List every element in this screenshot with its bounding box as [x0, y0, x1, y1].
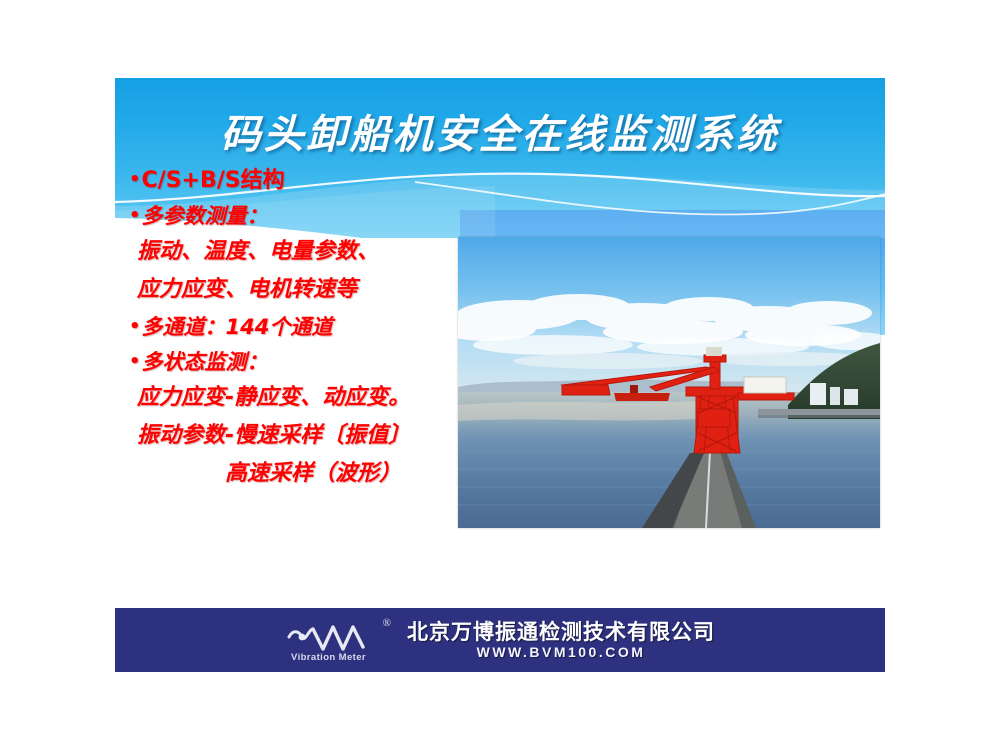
bullet-state-3: 高速采样（波形） — [225, 463, 489, 485]
logo-caption: Vibration Meter — [291, 652, 366, 663]
slide-title: 码头卸船机安全在线监测系统 — [115, 102, 885, 160]
bullet-list: •C/S+B/S结构 •多参数测量： 振动、温度、电量参数、 应力应变、电机转速… — [129, 170, 489, 501]
bullet-dot-icon: • — [129, 205, 141, 226]
bullet-multi-state-text: 多状态监测： — [142, 350, 268, 374]
company-website: WWW.BVM100.COM — [477, 645, 646, 660]
bullet-param-2: 应力应变、电机转速等 — [137, 279, 489, 301]
bullet-dot-icon: • — [129, 351, 141, 372]
bullet-multi-channel-text: 多通道：144个通道 — [142, 315, 333, 339]
ship-unloader-photo — [458, 237, 880, 528]
presentation-slide: 码头卸船机安全在线监测系统 •C/S+B/S结构 •多参数测量： 振动、温度、电… — [115, 78, 885, 672]
registered-trademark-icon: ® — [383, 617, 391, 629]
bullet-cs-bs-text: C/S+B/S结构 — [142, 168, 285, 193]
bullet-multi-param-text: 多参数测量： — [142, 204, 268, 228]
bullet-dot-icon: • — [129, 169, 141, 190]
waveform-logo-icon — [285, 617, 393, 655]
bullet-multi-param: •多参数测量： — [129, 206, 489, 227]
bullet-dot-icon: • — [129, 316, 141, 337]
footer-bar: ® Vibration Meter 北京万博振通检测技术有限公司 WWW.BVM… — [115, 608, 885, 672]
bullet-multi-channel: •多通道：144个通道 — [129, 317, 489, 338]
company-name: 北京万博振通检测技术有限公司 — [407, 621, 715, 643]
bullet-state-1: 应力应变-静应变、动应变。 — [137, 387, 489, 409]
vibration-meter-logo: ® Vibration Meter — [285, 617, 393, 663]
bullet-param-1: 振动、温度、电量参数、 — [137, 241, 489, 263]
bullet-multi-state: •多状态监测： — [129, 352, 489, 373]
bullet-state-2: 振动参数-慢速采样〔振值〕 — [137, 425, 489, 447]
footer-text-group: 北京万博振通检测技术有限公司 WWW.BVM100.COM — [407, 621, 715, 660]
bullet-cs-bs: •C/S+B/S结构 — [129, 170, 489, 192]
